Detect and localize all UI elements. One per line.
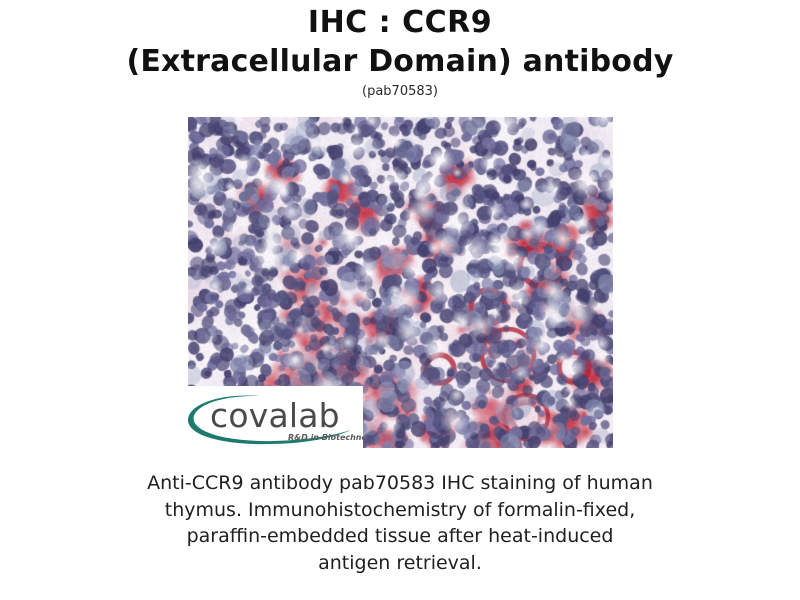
page-title-secondary: (Extracellular Domain) antibody — [0, 42, 800, 82]
covalab-logo-svg: covalab R&D in Biotechnology — [188, 386, 363, 448]
logo-tagline: R&D in Biotechnology — [288, 433, 363, 442]
logo-wordmark: covalab — [210, 396, 340, 435]
caption-line: Anti-CCR9 antibody pab70583 IHC staining… — [100, 470, 700, 497]
caption-line: paraffin-embedded tissue after heat-indu… — [100, 523, 700, 550]
product-code-label: (pab70583) — [0, 83, 800, 101]
covalab-logo: covalab R&D in Biotechnology — [188, 386, 363, 448]
caption-line: antigen retrieval. — [100, 550, 700, 577]
page-title-primary: IHC : CCR9 — [0, 4, 800, 42]
title-block: IHC : CCR9 (Extracellular Domain) antibo… — [0, 0, 800, 101]
caption-line: thymus. Immunohistochemistry of formalin… — [100, 497, 700, 524]
figure-caption: Anti-CCR9 antibody pab70583 IHC staining… — [100, 470, 700, 576]
